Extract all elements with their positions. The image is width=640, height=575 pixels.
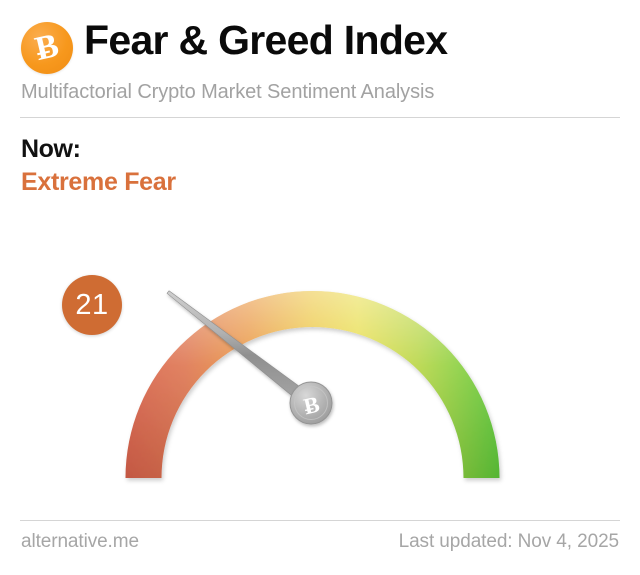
bitcoin-logo-glyph: Ƀ bbox=[16, 17, 78, 79]
header: Ƀ Fear & Greed Index Multifactorial Cryp… bbox=[0, 0, 640, 118]
gauge-hub: Ƀ bbox=[290, 382, 332, 424]
header-divider bbox=[20, 117, 620, 118]
footer-source[interactable]: alternative.me bbox=[21, 531, 139, 553]
gauge-chart: Ƀ bbox=[0, 180, 640, 510]
gauge-value-badge: 21 bbox=[62, 275, 122, 335]
page-title: Fear & Greed Index bbox=[84, 17, 447, 64]
footer-last-updated: Last updated: Nov 4, 2025 bbox=[399, 531, 619, 553]
footer-divider bbox=[20, 520, 620, 521]
page-subtitle: Multifactorial Crypto Market Sentiment A… bbox=[21, 81, 434, 104]
now-label: Now: bbox=[21, 135, 81, 164]
gauge-svg: Ƀ bbox=[0, 180, 640, 510]
bitcoin-icon: Ƀ bbox=[21, 22, 73, 74]
gauge-value-text: 21 bbox=[75, 291, 108, 320]
fear-greed-index-card: Ƀ Fear & Greed Index Multifactorial Cryp… bbox=[0, 0, 640, 575]
